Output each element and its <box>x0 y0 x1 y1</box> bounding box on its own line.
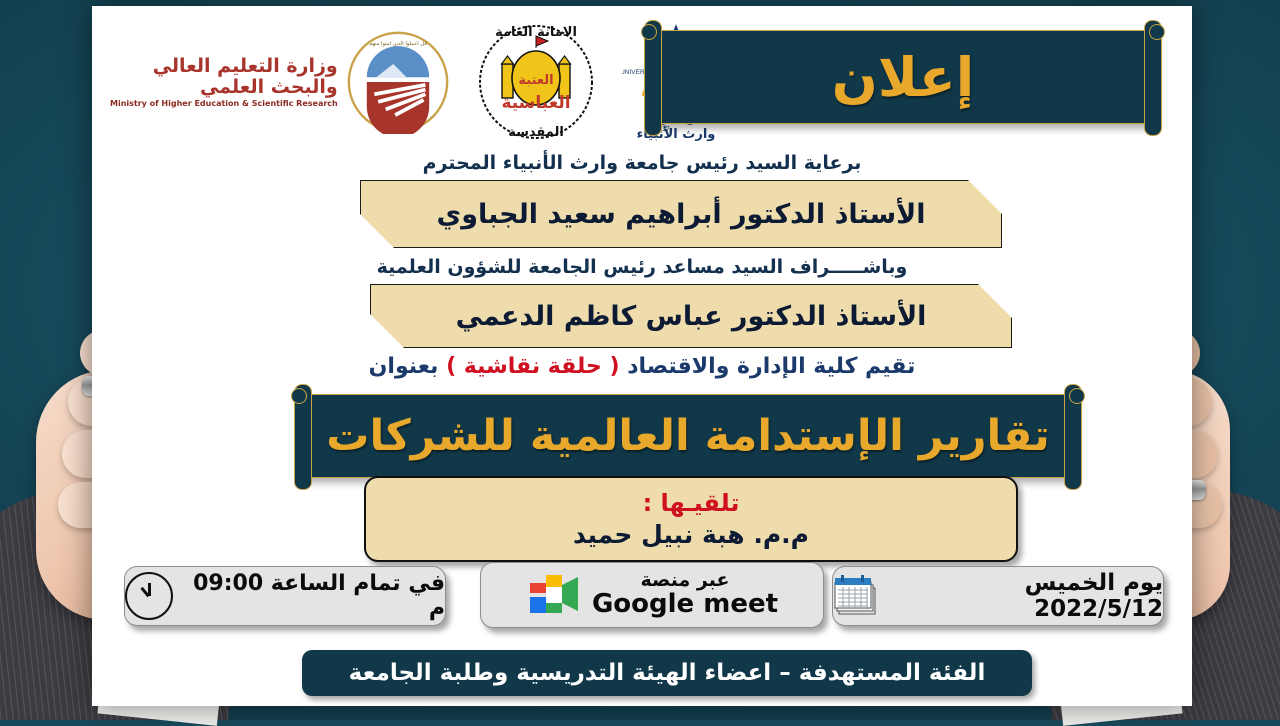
time-box: في تمام الساعة 09:00 م <box>124 566 446 626</box>
logo-row: UNIVERSITY OF WARITH AL-ANBIYA وارث الأن… <box>110 18 730 146</box>
svg-text:العباسية: العباسية <box>501 93 570 113</box>
time-text: في تمام الساعة 09:00 م <box>183 571 445 621</box>
date-text: يوم الخميس 2022/5/12 <box>893 570 1163 622</box>
platform-label-ar: عبر منصة <box>641 571 730 591</box>
al-ataba-al-abbasiyya-logo: الامانة العامة العتبة العباسية المقدسة <box>476 20 596 144</box>
svg-text:المقدسة: المقدسة <box>508 125 564 140</box>
calendar-icon <box>833 574 883 618</box>
poster-board: UNIVERSITY OF WARITH AL-ANBIYA وارث الأن… <box>92 6 1192 706</box>
chancellor-name: الأستاذ الدكتور أبراهيم سعيد الجباوي <box>436 199 925 230</box>
ministry-line-en: Ministry of Higher Education & Scientifi… <box>110 99 338 108</box>
vice-chancellor-name: الأستاذ الدكتور عباس كاظم الدعمي <box>456 301 927 332</box>
svg-text:العتبة: العتبة <box>518 73 553 88</box>
svg-text:قل اعملوا الذين امنوا منهم: قل اعملوا الذين امنوا منهم <box>369 41 427 47</box>
platform-label-en: Google meet <box>592 591 778 618</box>
seminar-after: بعنوان <box>369 354 439 379</box>
patronage-line: برعاية السيد رئيس جامعة وارث الأنبياء ال… <box>92 152 1192 174</box>
seminar-title: تقارير الإستدامة العالمية للشركات <box>326 411 1049 461</box>
clock-icon <box>125 572 173 620</box>
header-banner: إعلان <box>652 30 1154 124</box>
supervision-line: وباشـــــراف السيد مساعد رئيس الجامعة لل… <box>92 256 1192 278</box>
target-audience-bar: الفئة المستهدفة – اعضاء الهيئة التدريسية… <box>302 650 1032 696</box>
seminar-type-line: تقيم كلية الإدارة والاقتصاد ( حلقة نقاشي… <box>92 354 1192 379</box>
date-box: يوم الخميس 2022/5/12 <box>832 566 1164 626</box>
presenter-label: تلقيـها : <box>643 489 740 517</box>
presenter-name: م.م. هبة نبيل حميد <box>573 520 809 549</box>
chancellor-name-banner: الأستاذ الدكتور أبراهيم سعيد الجباوي <box>360 180 1002 248</box>
seminar-title-banner: تقارير الإستدامة العالمية للشركات <box>302 394 1074 478</box>
google-meet-icon <box>526 573 582 617</box>
seminar-before: تقيم كلية الإدارة والاقتصاد <box>627 354 915 379</box>
platform-box: عبر منصة Google meet <box>480 562 824 628</box>
target-audience-text: الفئة المستهدفة – اعضاء الهيئة التدريسية… <box>349 660 986 686</box>
ministry-line-1: وزارة التعليم العالي <box>110 56 338 78</box>
vice-chancellor-name-banner: الأستاذ الدكتور عباس كاظم الدعمي <box>370 284 1012 348</box>
ministry-line-2: والبحث العلمي <box>110 77 338 99</box>
announcement-title: إعلان <box>832 46 975 109</box>
seminar-highlight: ( حلقة نقاشية ) <box>446 354 619 379</box>
presenter-box: تلقيـها : م.م. هبة نبيل حميد <box>364 476 1018 562</box>
ministry-of-higher-education-logo: قل اعملوا الذين امنوا منهم وزارة التعليم… <box>110 30 450 134</box>
